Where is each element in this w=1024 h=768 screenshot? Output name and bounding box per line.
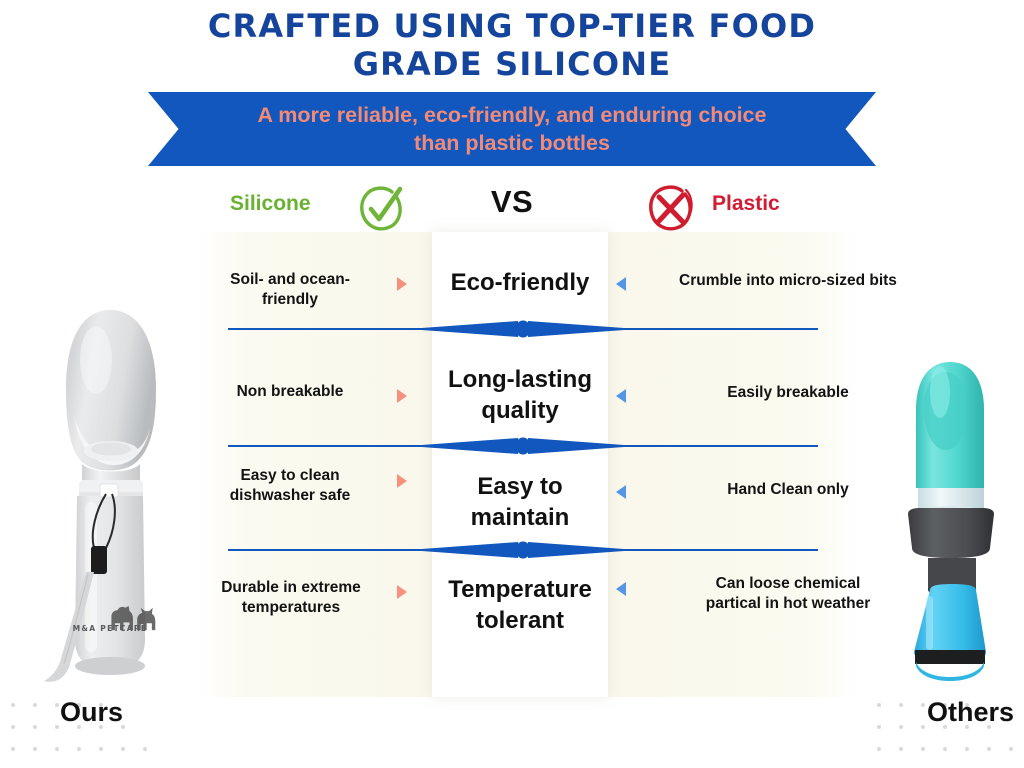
arrow-left-icon xyxy=(616,485,626,499)
row-center-line1: Eco-friendly xyxy=(424,268,616,299)
plastic-label: Plastic xyxy=(712,192,852,216)
arrow-right-icon xyxy=(397,585,407,599)
subtitle-ribbon: A more reliable, eco-friendly, and endur… xyxy=(148,92,876,166)
page-title-line2: GRADE SILICONE xyxy=(0,46,1024,84)
row-left-text: Non breakable xyxy=(192,382,388,402)
row-center-text: Easy to maintain xyxy=(424,472,616,533)
ribbon-text: A more reliable, eco-friendly, and endur… xyxy=(148,92,876,166)
ours-product-image: M&A PETCARE xyxy=(22,288,198,692)
arrow-left-icon xyxy=(616,277,626,291)
page-title: CRAFTED USING TOP-TIER FOOD GRADE SILICO… xyxy=(0,8,1024,84)
row-center-text: Long-lasting quality xyxy=(424,365,616,426)
ribbon-line2: than plastic bottles xyxy=(258,129,767,157)
row-center-line1: Temperature xyxy=(424,575,616,606)
page-title-line1: CRAFTED USING TOP-TIER FOOD xyxy=(208,7,816,45)
row-center-line1: Long-lasting xyxy=(424,365,616,396)
comparison-header: Silicone VS Plastic xyxy=(0,182,1024,232)
row-left-text: Durable in extreme temperatures xyxy=(186,578,396,619)
others-product-image xyxy=(884,352,1012,692)
arrow-left-icon xyxy=(616,582,626,596)
row-center-line2: quality xyxy=(424,396,616,427)
others-label: Others xyxy=(814,697,1014,728)
row-left-text: Easy to clean dishwasher safe xyxy=(192,466,388,507)
row-center-text: Temperature tolerant xyxy=(424,575,616,636)
ours-label: Ours xyxy=(60,697,200,728)
row-left-line2: temperatures xyxy=(186,598,396,618)
row-left-text: Soil- and ocean- friendly xyxy=(192,270,388,311)
row-left-line1: Durable in extreme xyxy=(186,578,396,598)
svg-text:M&A PETCARE: M&A PETCARE xyxy=(73,624,148,633)
row-left-line1: Easy to clean xyxy=(192,466,388,486)
arrow-right-icon xyxy=(397,474,407,488)
row-right-line1: Crumble into micro-sized bits xyxy=(638,271,938,291)
row-left-line1: Soil- and ocean- xyxy=(192,270,388,290)
row-right-text: Crumble into micro-sized bits xyxy=(638,271,938,291)
row-center-text: Eco-friendly xyxy=(424,268,616,299)
x-circle-icon xyxy=(642,184,700,234)
row-center-line1: Easy to xyxy=(424,472,616,503)
vs-label: VS xyxy=(0,184,1024,220)
arrow-left-icon xyxy=(616,389,626,403)
row-left-line2: friendly xyxy=(192,290,388,310)
row-center-line2: tolerant xyxy=(424,606,616,637)
row-left-line1: Non breakable xyxy=(192,382,388,402)
row-left-line2: dishwasher safe xyxy=(192,486,388,506)
ribbon-line1: A more reliable, eco-friendly, and endur… xyxy=(258,101,767,129)
arrow-right-icon xyxy=(397,389,407,403)
row-center-line2: maintain xyxy=(424,503,616,534)
arrow-right-icon xyxy=(397,277,407,291)
